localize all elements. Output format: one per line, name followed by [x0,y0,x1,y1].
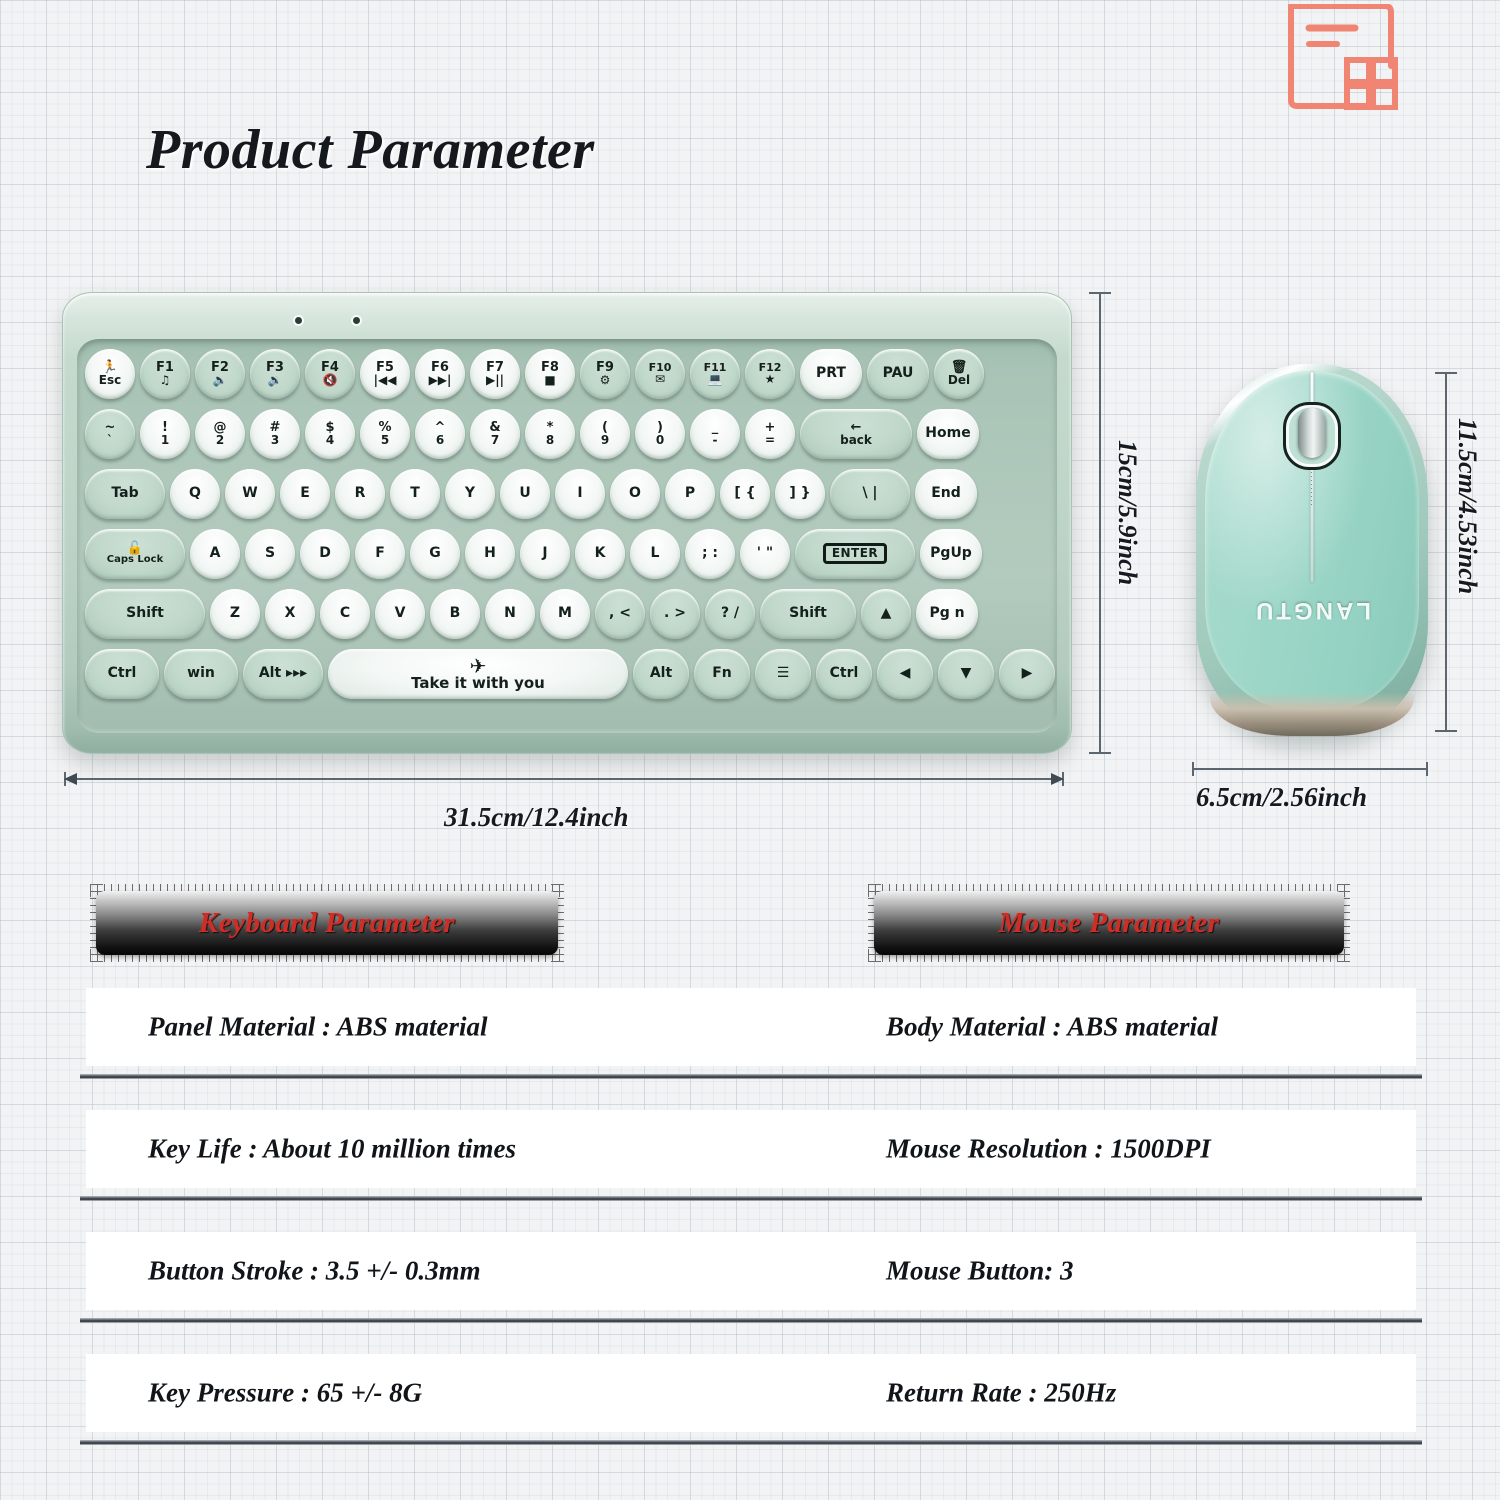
key-top-legend: ~ [105,421,116,434]
key-top-legend: F2 [211,361,229,374]
key-top-legend: F7 [486,361,504,374]
key-bottom-legend: |◀◀ [374,374,397,386]
key-z[interactable]: Z [210,589,260,639]
key-bottom-legend: ? / [721,606,739,620]
key-bottom-legend: ; : [702,546,718,560]
key-5[interactable]: %5 [360,409,410,459]
key-bottom-legend: win [187,666,215,680]
mouse-side-text: ········· [1307,471,1317,507]
key-r[interactable]: R [335,469,385,519]
key-top-legend: F3 [266,361,284,374]
key-0[interactable]: )0 [635,409,685,459]
keyboard-height-dimension [1088,292,1112,754]
key-tab[interactable]: Tab [85,469,165,519]
key-[interactable]: [ { [720,469,770,519]
keyboard-case: 🏃EscF1♫F2🔈F3🔉F4🔇F5|◀◀F6▶▶|F7▶||F8■F9⚙F10… [62,292,1072,754]
key-f8[interactable]: F8■ [525,349,575,399]
key-top-legend: ^ [435,421,446,434]
key-bottom-legend: Ctrl [108,666,137,680]
spacebar-tagline: Take it with you [411,676,545,691]
key-3[interactable]: #3 [250,409,300,459]
key-bottom-legend: C [340,606,350,620]
key-back[interactable]: ←back [800,409,912,459]
key-win[interactable]: win [164,649,238,699]
key-pgdn[interactable]: Pg n [916,589,978,639]
key-bottom-legend: E [300,486,310,500]
key-bottom-legend: V [395,606,406,620]
key-top-legend: 🔓 [127,542,143,555]
infographic-canvas: Product Parameter 🏃EscF1♫F2🔈F3🔉F4🔇F5|◀◀F… [0,0,1500,1500]
key-home[interactable]: Home [917,409,979,459]
keyboard-param-1: Key Life : About 10 million times [148,1134,516,1165]
key-b[interactable]: B [430,589,480,639]
key-2[interactable]: @2 [195,409,245,459]
key-bottom-legend: ▶|| [486,374,504,386]
key-bottom-legend: Caps Lock [107,555,164,565]
key-top-legend: # [270,421,281,434]
key-top-legend: F6 [431,361,449,374]
key-bottom-legend: Z [230,606,240,620]
mouse-banner-frame: Mouse Parameter [868,884,1350,962]
key-bottom-legend: Del [948,374,970,386]
key-[interactable]: ~` [85,409,135,459]
keyboard-section-banner: Keyboard Parameter [96,891,558,955]
parameter-row: Key Pressure : 65 +/- 8G Return Rate : 2… [86,1354,1416,1432]
key-bottom-legend: [ { [734,486,755,500]
key-bottom-legend: ♫ [160,374,171,386]
parameter-row: Button Stroke : 3.5 +/- 0.3mm Mouse Butt… [86,1232,1416,1310]
key-bottom-legend: S [265,546,275,560]
key-bottom-legend: 7 [491,434,499,446]
key-bottom-legend: M [558,606,572,620]
key-bottom-legend: 🔇 [323,374,338,386]
key-f9[interactable]: F9⚙ [580,349,630,399]
key-bottom-legend: ▶ [1022,666,1033,680]
key-bottom-legend: L [651,546,660,560]
key-[interactable]: \ | [830,469,910,519]
led-indicator-2 [353,317,360,324]
key-m[interactable]: M [540,589,590,639]
key-bottom-legend: = [765,434,775,446]
key-bottom-legend: ⚙ [600,374,611,386]
key-end[interactable]: End [915,469,977,519]
mouse-param-1: Mouse Resolution : 1500DPI [886,1134,1211,1165]
key-altr[interactable]: Alt [633,649,689,699]
mouse-param-0: Body Material : ABS material [886,1012,1218,1043]
key-bottom-legend: ✉ [655,373,665,385]
key-bottom-legend: 5 [381,434,389,446]
key-bottom-legend: ★ [765,373,776,385]
key-pau[interactable]: PAU [867,349,929,399]
key-t[interactable]: T [390,469,440,519]
keyboard-row: TabQWERTYUIOP[ {] }\ |End [85,465,1053,522]
key-[interactable]: ; : [685,529,735,579]
key-bottom-legend: ▼ [961,666,972,680]
key-bottom-legend: ▶▶| [429,374,452,386]
key-f6[interactable]: F6▶▶| [415,349,465,399]
key-j[interactable]: J [520,529,570,579]
key-i[interactable]: I [555,469,605,519]
key-top-legend: ← [851,421,862,434]
key-top-legend: F4 [321,361,339,374]
mouse-param-3: Return Rate : 250Hz [886,1378,1116,1409]
keyboard-section-title: Keyboard Parameter [199,907,455,940]
key-h[interactable]: H [465,529,515,579]
key-bottom-legend: 2 [216,434,224,446]
key-bottom-legend: W [242,486,257,500]
key-9[interactable]: (9 [580,409,630,459]
key-top-legend: 🏃 [102,361,118,374]
keyboard-row: CtrlwinAlt ▸▸▸✈Take it with youAltFn☰Ctr… [85,645,1053,702]
parameter-row: Key Life : About 10 million times Mouse … [86,1110,1416,1188]
key-top-legend: 🗑 [951,361,968,374]
keyboard-width-label: 31.5cm/12.4inch [444,802,629,833]
key-del[interactable]: 🗑Del [934,349,984,399]
key-shiftr[interactable]: Shift [760,589,856,639]
key-bottom-legend: 1 [161,434,169,446]
key-pgup[interactable]: PgUp [920,529,982,579]
key-top-legend: ) [657,421,663,434]
keyboard-param-2: Button Stroke : 3.5 +/- 0.3mm [148,1256,481,1287]
key-bottom-legend: ■ [544,374,555,386]
key-bottom-legend: K [595,546,606,560]
keyboard-row: 🔓Caps LockASDFGHJKL; :' "ENTERPgUp [85,525,1053,582]
key-y[interactable]: Y [445,469,495,519]
mouse-section-banner: Mouse Parameter [874,891,1344,955]
keyboard-width-dimension [64,772,1064,786]
key-top-legend: F1 [156,361,174,374]
key-bottom-legend: O [629,486,641,500]
key-bottom-legend: B [450,606,461,620]
key-o[interactable]: O [610,469,660,519]
key-bottom-legend: PRT [816,366,846,380]
key-w[interactable]: W [225,469,275,519]
key-top-legend: ! [162,421,168,434]
key-[interactable]: += [745,409,795,459]
key-bottom-legend: F [375,546,385,560]
key-bottom-legend: back [840,434,872,446]
key-[interactable]: ] } [775,469,825,519]
keyboard-row: ShiftZXCVBNM, <. >? /Shift▲Pg n [85,585,1053,642]
key-bottom-legend: Ctrl [830,666,859,680]
key-bottom-legend: R [355,486,366,500]
key-top-legend: F5 [376,361,394,374]
airplane-icon: ✈ [470,656,487,676]
key-f10[interactable]: F10✉ [635,349,685,399]
key-bottom-legend: T [410,486,420,500]
mouse-height-label: 11.5cm/4.53inch [1452,418,1482,594]
key-bottom-legend: , < [609,606,631,620]
key-4[interactable]: $4 [305,409,355,459]
mouse-illustration: ········· LANGTU [1196,364,1428,736]
keyboard-row: ~`!1@2#3$4%5^6&7*8(9)0_-+=←backHome [85,405,1053,462]
key-bottom-legend: U [519,486,530,500]
key-7[interactable]: &7 [470,409,520,459]
keyboard-key-grid: 🏃EscF1♫F2🔈F3🔉F4🔇F5|◀◀F6▶▶|F7▶||F8■F9⚙F10… [85,345,1053,731]
key-bottom-legend: G [429,546,441,560]
key-bottom-legend: Pg n [929,606,964,620]
key-bottom-legend: 🔉 [268,374,283,386]
key-alt[interactable]: Alt ▸▸▸ [243,649,323,699]
key-bottom-legend: 0 [656,434,664,446]
key-top-legend: ( [602,421,608,434]
key-up[interactable]: ▲ [861,589,911,639]
key-f7[interactable]: F7▶|| [470,349,520,399]
key-top-legend: % [378,421,391,434]
key-[interactable]: , < [595,589,645,639]
key-down[interactable]: ▼ [938,649,994,699]
key-bottom-legend: PAU [883,366,914,380]
key-bottom-legend: A [210,546,221,560]
key-f12[interactable]: F12★ [745,349,795,399]
key-ctrlr[interactable]: Ctrl [816,649,872,699]
led-indicator-1 [295,317,302,324]
key-bottom-legend: 8 [546,434,554,446]
key-6[interactable]: ^6 [415,409,465,459]
key-s[interactable]: S [245,529,295,579]
key-f4[interactable]: F4🔇 [305,349,355,399]
page-title: Product Parameter [146,118,595,182]
key-f2[interactable]: F2🔈 [195,349,245,399]
key-fn[interactable]: Fn [694,649,750,699]
key-bottom-legend: 9 [601,434,609,446]
key-f11[interactable]: F11💻 [690,349,740,399]
key-capslock[interactable]: 🔓Caps Lock [85,529,185,579]
key-bottom-legend: Fn [712,666,732,680]
key-c[interactable]: C [320,589,370,639]
mouse-param-2: Mouse Button: 3 [886,1256,1074,1287]
key-1[interactable]: !1 [140,409,190,459]
key-bottom-legend: 6 [436,434,444,446]
key-f3[interactable]: F3🔉 [250,349,300,399]
key-enter-label: ENTER [823,543,887,563]
keyboard-illustration: 🏃EscF1♫F2🔈F3🔉F4🔇F5|◀◀F6▶▶|F7▶||F8■F9⚙F10… [62,292,1072,754]
key-d[interactable]: D [300,529,350,579]
key-top-legend: + [765,421,776,434]
key-bottom-legend: Tab [111,486,138,500]
key-top-legend: * [547,421,554,434]
key-bottom-legend: End [931,486,961,500]
key-[interactable]: ? / [705,589,755,639]
mouse-scroll-wheel [1298,408,1326,458]
parameter-document-icon [1281,4,1405,110]
mouse-brand-label: LANGTU [1253,596,1371,624]
key-bottom-legend: PgUp [930,546,972,560]
mouse-section-title: Mouse Parameter [999,907,1220,940]
key-bottom-legend: Esc [99,374,121,386]
key-left[interactable]: ◀ [877,649,933,699]
keyboard-param-3: Key Pressure : 65 +/- 8G [148,1378,422,1409]
key-space[interactable]: ✈Take it with you [328,649,628,699]
key-bottom-legend: P [685,486,695,500]
key-bottom-legend: 3 [271,434,279,446]
key-bottom-legend: H [484,546,496,560]
key-bottom-legend: Home [925,426,970,440]
key-ctrl[interactable]: Ctrl [85,649,159,699]
key-bottom-legend: ] } [789,486,810,500]
key-[interactable]: _- [690,409,740,459]
keyboard-param-0: Panel Material : ABS material [148,1012,488,1043]
key-q[interactable]: Q [170,469,220,519]
key-f[interactable]: F [355,529,405,579]
key-shift[interactable]: Shift [85,589,205,639]
key-bottom-legend: N [504,606,516,620]
key-bottom-legend: Q [189,486,201,500]
key-bottom-legend: \ | [862,486,877,500]
key-k[interactable]: K [575,529,625,579]
key-prt[interactable]: PRT [800,349,862,399]
key-bottom-legend: Shift [126,606,164,620]
key-bottom-legend: ◀ [900,666,911,680]
key-8[interactable]: *8 [525,409,575,459]
key-bottom-legend: Alt ▸▸▸ [259,666,307,680]
key-bottom-legend: 💻 [708,373,723,385]
key-n[interactable]: N [485,589,535,639]
key-top-legend: & [489,421,500,434]
key-top-legend: F9 [596,361,614,374]
key-[interactable]: ' " [740,529,790,579]
key-bottom-legend: . > [664,606,686,620]
key-bottom-legend: Y [465,486,475,500]
keyboard-banner-frame: Keyboard Parameter [90,884,564,962]
keyboard-row: 🏃EscF1♫F2🔈F3🔉F4🔇F5|◀◀F6▶▶|F7▶||F8■F9⚙F10… [85,345,1053,402]
key-bottom-legend: D [319,546,331,560]
key-top-legend: $ [325,421,334,434]
key-[interactable]: . > [650,589,700,639]
key-x[interactable]: X [265,589,315,639]
key-top-legend: _ [712,421,719,434]
mouse-width-dimension [1192,762,1428,776]
mouse-base-trim [1210,692,1414,736]
key-bottom-legend: 4 [326,434,334,446]
key-right[interactable]: ▶ [999,649,1055,699]
key-bottom-legend: J [542,546,547,560]
key-menu[interactable]: ☰ [755,649,811,699]
key-bottom-legend: Alt [650,666,672,680]
key-e[interactable]: E [280,469,330,519]
key-bottom-legend: - [713,434,718,446]
key-g[interactable]: G [410,529,460,579]
key-f5[interactable]: F5|◀◀ [360,349,410,399]
keyboard-height-label: 15cm/5.9inch [1112,440,1142,585]
key-esc[interactable]: 🏃Esc [85,349,135,399]
key-bottom-legend: ' " [757,546,773,560]
key-p[interactable]: P [665,469,715,519]
mouse-width-label: 6.5cm/2.56inch [1196,782,1367,813]
key-v[interactable]: V [375,589,425,639]
key-u[interactable]: U [500,469,550,519]
key-l[interactable]: L [630,529,680,579]
key-bottom-legend: I [577,486,582,500]
key-f1[interactable]: F1♫ [140,349,190,399]
key-enter[interactable]: ENTER [795,529,915,579]
key-bottom-legend: 🔈 [213,374,228,386]
key-top-legend: F8 [541,361,559,374]
key-a[interactable]: A [190,529,240,579]
key-top-legend: @ [214,421,227,434]
key-bottom-legend: ▲ [881,606,892,620]
key-bottom-legend: ` [107,434,113,446]
key-bottom-legend: Shift [789,606,827,620]
parameter-row: Panel Material : ABS material Body Mater… [86,988,1416,1066]
key-bottom-legend: ☰ [777,666,790,680]
key-bottom-legend: X [285,606,296,620]
